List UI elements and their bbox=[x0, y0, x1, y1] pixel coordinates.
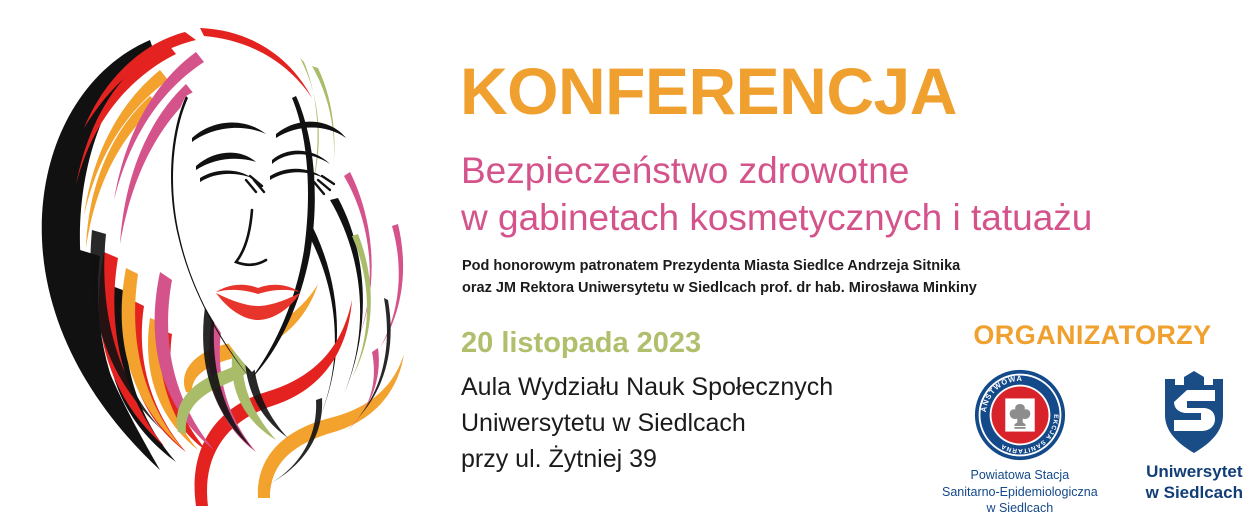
organizer-university-caption: Uniwersytet w Siedlcach bbox=[1146, 461, 1243, 504]
organizers-section: ORGANIZATORZY bbox=[925, 322, 1260, 522]
patronage-line-2: oraz JM Rektora Uniwersytetu w Siedlcach… bbox=[462, 278, 977, 300]
patronage-line-1: Pod honorowym patronatem Prezydenta Mias… bbox=[462, 256, 977, 278]
organizer-sanitary-station: PAŃSTWOWA INSPEKCJA SANITARNA Powiatowa … bbox=[942, 369, 1098, 517]
event-date: 20 listopada 2023 bbox=[461, 329, 701, 358]
sanitary-inspection-seal-icon: PAŃSTWOWA INSPEKCJA SANITARNA bbox=[974, 369, 1066, 461]
subtitle-line-1: Bezpieczeństwo zdrowotne bbox=[461, 148, 1092, 195]
poster-subtitle: Bezpieczeństwo zdrowotne w gabinetach ko… bbox=[461, 148, 1092, 241]
venue-line-3: przy ul. Żytniej 39 bbox=[461, 441, 833, 477]
poster-content: KONFERENCJA Bezpieczeństwo zdrowotne w g… bbox=[455, 0, 1260, 532]
sanitary-caption-line-3: w Siedlcach bbox=[942, 500, 1098, 517]
organizers-logos: PAŃSTWOWA INSPEKCJA SANITARNA Powiatowa … bbox=[925, 369, 1260, 517]
event-venue: Aula Wydziału Nauk Społecznych Uniwersyt… bbox=[461, 369, 833, 477]
university-caption-line-1: Uniwersytet bbox=[1146, 461, 1243, 482]
organizer-sanitary-caption: Powiatowa Stacja Sanitarno-Epidemiologic… bbox=[942, 467, 1098, 517]
organizer-university: Uniwersytet w Siedlcach bbox=[1146, 369, 1243, 504]
venue-line-2: Uniwersytetu w Siedlcach bbox=[461, 405, 833, 441]
subtitle-line-2: w gabinetach kosmetycznych i tatuażu bbox=[461, 195, 1092, 242]
woman-face-line-art bbox=[0, 0, 440, 532]
conference-poster: KONFERENCJA Bezpieczeństwo zdrowotne w g… bbox=[0, 0, 1260, 532]
sanitary-caption-line-1: Powiatowa Stacja bbox=[942, 467, 1098, 484]
sanitary-caption-line-2: Sanitarno-Epidemiologiczna bbox=[942, 484, 1098, 501]
venue-line-1: Aula Wydziału Nauk Społecznych bbox=[461, 369, 833, 405]
patronage-text: Pod honorowym patronatem Prezydenta Mias… bbox=[462, 256, 977, 300]
page-title: KONFERENCJA bbox=[460, 58, 957, 124]
university-shield-icon bbox=[1157, 369, 1231, 455]
university-caption-line-2: w Siedlcach bbox=[1146, 482, 1243, 503]
organizers-title: ORGANIZATORZY bbox=[925, 322, 1260, 349]
